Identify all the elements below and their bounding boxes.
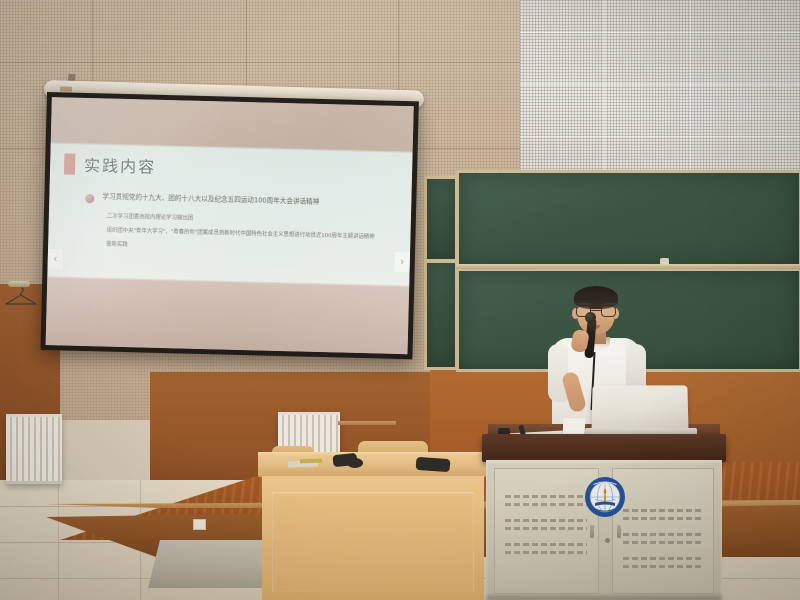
wall-panel-seam — [0, 62, 535, 63]
podium-door-handle[interactable] — [590, 525, 594, 538]
blackboard-panel — [456, 170, 800, 270]
slide-next-button[interactable]: › — [395, 252, 411, 272]
chalk-tray — [456, 264, 800, 269]
projector-screen-surface: 实践内容 学习贯彻党的十九大、团的十八大以及纪念五四运动100周年大会讲话精神 … — [46, 97, 414, 354]
podium-door-right[interactable] — [612, 468, 714, 594]
laptop-lid — [591, 385, 688, 433]
desk-paper — [300, 459, 322, 464]
stage-step — [148, 540, 268, 588]
desk-front-panel — [262, 476, 484, 600]
clothes-hanger-icon — [3, 286, 39, 306]
radiator — [6, 414, 62, 484]
chalk-piece — [660, 258, 669, 265]
podium-lock-icon[interactable] — [605, 538, 610, 543]
wall-panel-seam — [398, 0, 399, 96]
microphone-head — [585, 312, 596, 323]
wall-panel-seam — [520, 136, 800, 137]
blackboard-panel — [424, 176, 458, 262]
radiator-pipe — [338, 421, 396, 425]
slide-title: 实践内容 — [84, 152, 157, 178]
glasses-icon — [576, 306, 616, 317]
podium-door-handle[interactable] — [617, 525, 621, 538]
wall-panel-seam — [520, 84, 800, 85]
slide-title-row: 实践内容 — [64, 151, 157, 177]
right-acoustic-wall — [520, 0, 800, 190]
university-crest-icon — [584, 476, 626, 518]
slide-bullet-main: 学习贯彻党的十九大、团的十八大以及纪念五四运动100周年大会讲话精神 — [102, 192, 319, 206]
roller-brand-badge — [60, 86, 72, 91]
lecture-hall-photo: 实践内容 学习贯彻党的十九大、团的十八大以及纪念五四运动100周年大会讲话精神 … — [0, 0, 800, 600]
wall-outlet-icon — [193, 519, 206, 530]
podium-paper — [563, 418, 586, 436]
podium-shadow — [486, 596, 722, 600]
slide-bullet-row: 学习贯彻党的十九大、团的十八大以及纪念五四运动100周年大会讲话精神 — [85, 192, 319, 209]
podium-top — [482, 434, 726, 462]
slide-sub-lines: 二次学习团委高校内理论学习微出团 组织团中央"青年大学习"、"青春的你"团属成员… — [106, 211, 375, 259]
projector-screen-frame: 实践内容 学习贯彻党的十九大、团的十八大以及纪念五四运动100周年大会讲话精神 … — [40, 92, 418, 359]
wall-panel-seam — [520, 32, 800, 33]
blackboard-panel — [424, 260, 458, 370]
slide-prev-button[interactable]: ‹ — [48, 249, 64, 269]
wall-panel-seam — [604, 0, 605, 190]
title-accent-bar — [64, 153, 76, 174]
desk-object — [347, 458, 363, 468]
bullet-dot-icon — [85, 194, 94, 203]
podium-cabinet — [486, 460, 722, 600]
presentation-slide: 实践内容 学习贯彻党的十九大、团的十八大以及纪念五四运动100周年大会讲话精神 … — [46, 97, 414, 354]
desk-object — [416, 457, 451, 472]
wall-panel-seam — [690, 0, 691, 190]
